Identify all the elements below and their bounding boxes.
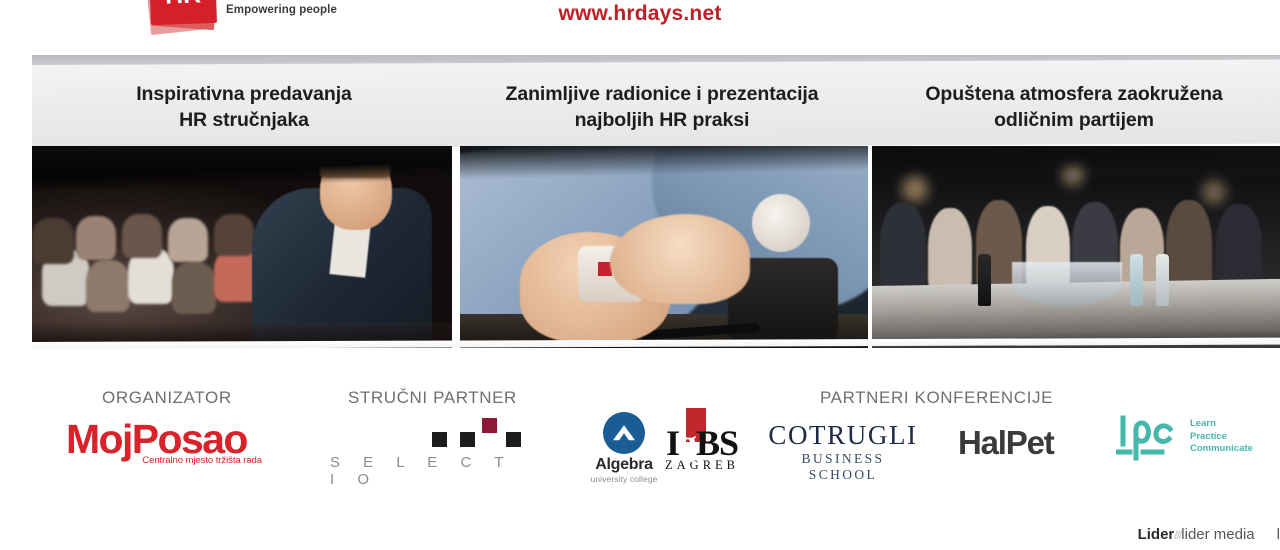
page-header: HR DAYS Empowering people www.hrdays.net — [0, 0, 1280, 46]
mojposao-wordmark: MojPosao — [66, 418, 262, 460]
lider-tail: l — [1277, 526, 1280, 543]
photo-strip — [32, 146, 1280, 348]
lpc-line-3: Communicate — [1190, 443, 1253, 456]
label-conference-partners: PARTNERI KONFERENCIJE — [820, 388, 1053, 408]
lpc-tagline: Learn Practice Communicate — [1190, 418, 1253, 456]
banner-heading-2-line1: Zanimljive radionice i prezentacija — [506, 81, 819, 107]
lider-bold: Lider — [1138, 526, 1175, 543]
selectio-square-red — [482, 418, 497, 433]
banner-columns: Inspirativna predavanja HR stručnjaka Za… — [32, 65, 1280, 147]
photo-workshop-hands — [460, 146, 868, 348]
banner-heading-1-line1: Inspirativna predavanja — [136, 81, 352, 107]
logo-algebra[interactable]: Algebra university college — [583, 412, 665, 484]
halpet-wordmark: HalPet — [958, 424, 1054, 462]
lpc-mark-icon — [1116, 414, 1178, 462]
cotrugli-sub: BUSINESS SCHOOL — [768, 451, 918, 483]
banner-column-1: Inspirativna predavanja HR stručnjaka — [32, 65, 456, 147]
banner-heading-2-line2: najboljih HR praksi — [506, 107, 819, 133]
banner-heading-1-line2: HR stručnjaka — [136, 107, 352, 133]
logo-mojposao[interactable]: MojPosao Centralno mjesto tržišta rada — [66, 418, 262, 466]
lider-name: lider media — [1181, 526, 1254, 543]
logo-selectio[interactable]: S E L E C T I O — [330, 418, 520, 476]
logo-lider-media[interactable]: Lider///lider medial — [1138, 526, 1280, 548]
headings-banner: Inspirativna predavanja HR stručnjaka Za… — [32, 55, 1280, 147]
logo-halpet[interactable]: HalPet — [958, 424, 1054, 462]
cotrugli-name: COTRUGLI — [768, 420, 918, 450]
page-footer: Lider///lider medial — [0, 512, 1280, 550]
lpc-line-2: Practice — [1190, 431, 1253, 444]
igbs-wordmark: IgBS — [660, 424, 744, 462]
algebra-chevron-icon — [603, 412, 645, 454]
photo-bar-party — [872, 146, 1280, 348]
selectio-square-2 — [460, 432, 475, 447]
website-url[interactable]: www.hrdays.net — [0, 2, 1280, 26]
selectio-wordmark: S E L E C T I O — [330, 454, 520, 488]
logo-igbs[interactable]: IgBS ZAGREB — [660, 408, 744, 473]
banner-heading-3-line1: Opuštena atmosfera zaokružena — [925, 81, 1222, 107]
banner-column-3: Opuštena atmosfera zaokružena odličnim p… — [868, 65, 1280, 147]
selectio-square-3 — [506, 432, 521, 447]
algebra-name: Algebra — [583, 456, 665, 474]
banner-column-2: Zanimljive radionice i prezentacija najb… — [456, 65, 868, 147]
algebra-sub: university college — [583, 474, 665, 484]
logo-cotrugli[interactable]: COTRUGLI BUSINESS SCHOOL — [768, 420, 918, 483]
sponsors-section: ORGANIZATOR STRUČNI PARTNER PARTNERI KON… — [0, 352, 1280, 512]
banner-heading-3-line2: odličnim partijem — [925, 107, 1222, 133]
label-expert-partner: STRUČNI PARTNER — [348, 388, 517, 408]
label-organizer: ORGANIZATOR — [102, 388, 232, 408]
photo-conference-audience — [32, 146, 452, 348]
lpc-line-1: Learn — [1190, 418, 1253, 431]
selectio-square-1 — [432, 432, 447, 447]
